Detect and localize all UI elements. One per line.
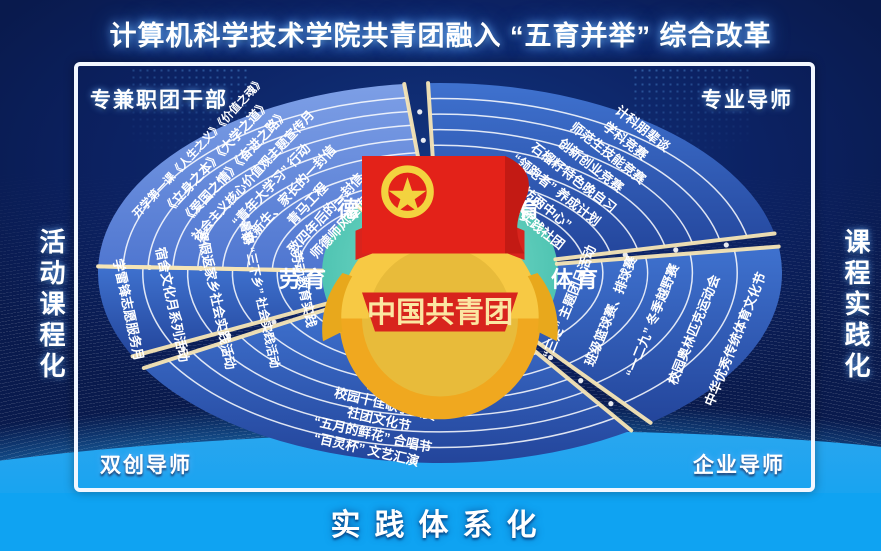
bottom-band: 实践体系化: [0, 493, 881, 551]
corner-label-top-right: 专业导师: [701, 84, 793, 114]
side-label-right: 课程实践化: [815, 150, 871, 460]
poster-title: 计算机科学技术学院共青团融入 “五育并举” 综合改革: [0, 14, 881, 53]
poster-canvas: 计算机科学技术学院共青团融入 “五育并举” 综合改革 活动课程化 课程实践化 专…: [0, 0, 881, 551]
corner-label-bottom-right: 企业导师: [693, 449, 785, 479]
bottom-band-label: 实践体系化: [331, 500, 551, 544]
corner-label-top-left: 专兼职团干部: [90, 84, 228, 114]
five-education-wheel: 开学第一课《人生之义》《价值之魂》《立身之本》《大学之道》《爱国之情》《奋进之路…: [95, 78, 785, 468]
side-label-left: 活动课程化: [10, 150, 66, 460]
corner-label-bottom-left: 双创导师: [100, 449, 192, 479]
emblem-text: 中国共青团: [367, 296, 513, 329]
communist-youth-league-emblem: 中国共青团: [95, 78, 785, 468]
